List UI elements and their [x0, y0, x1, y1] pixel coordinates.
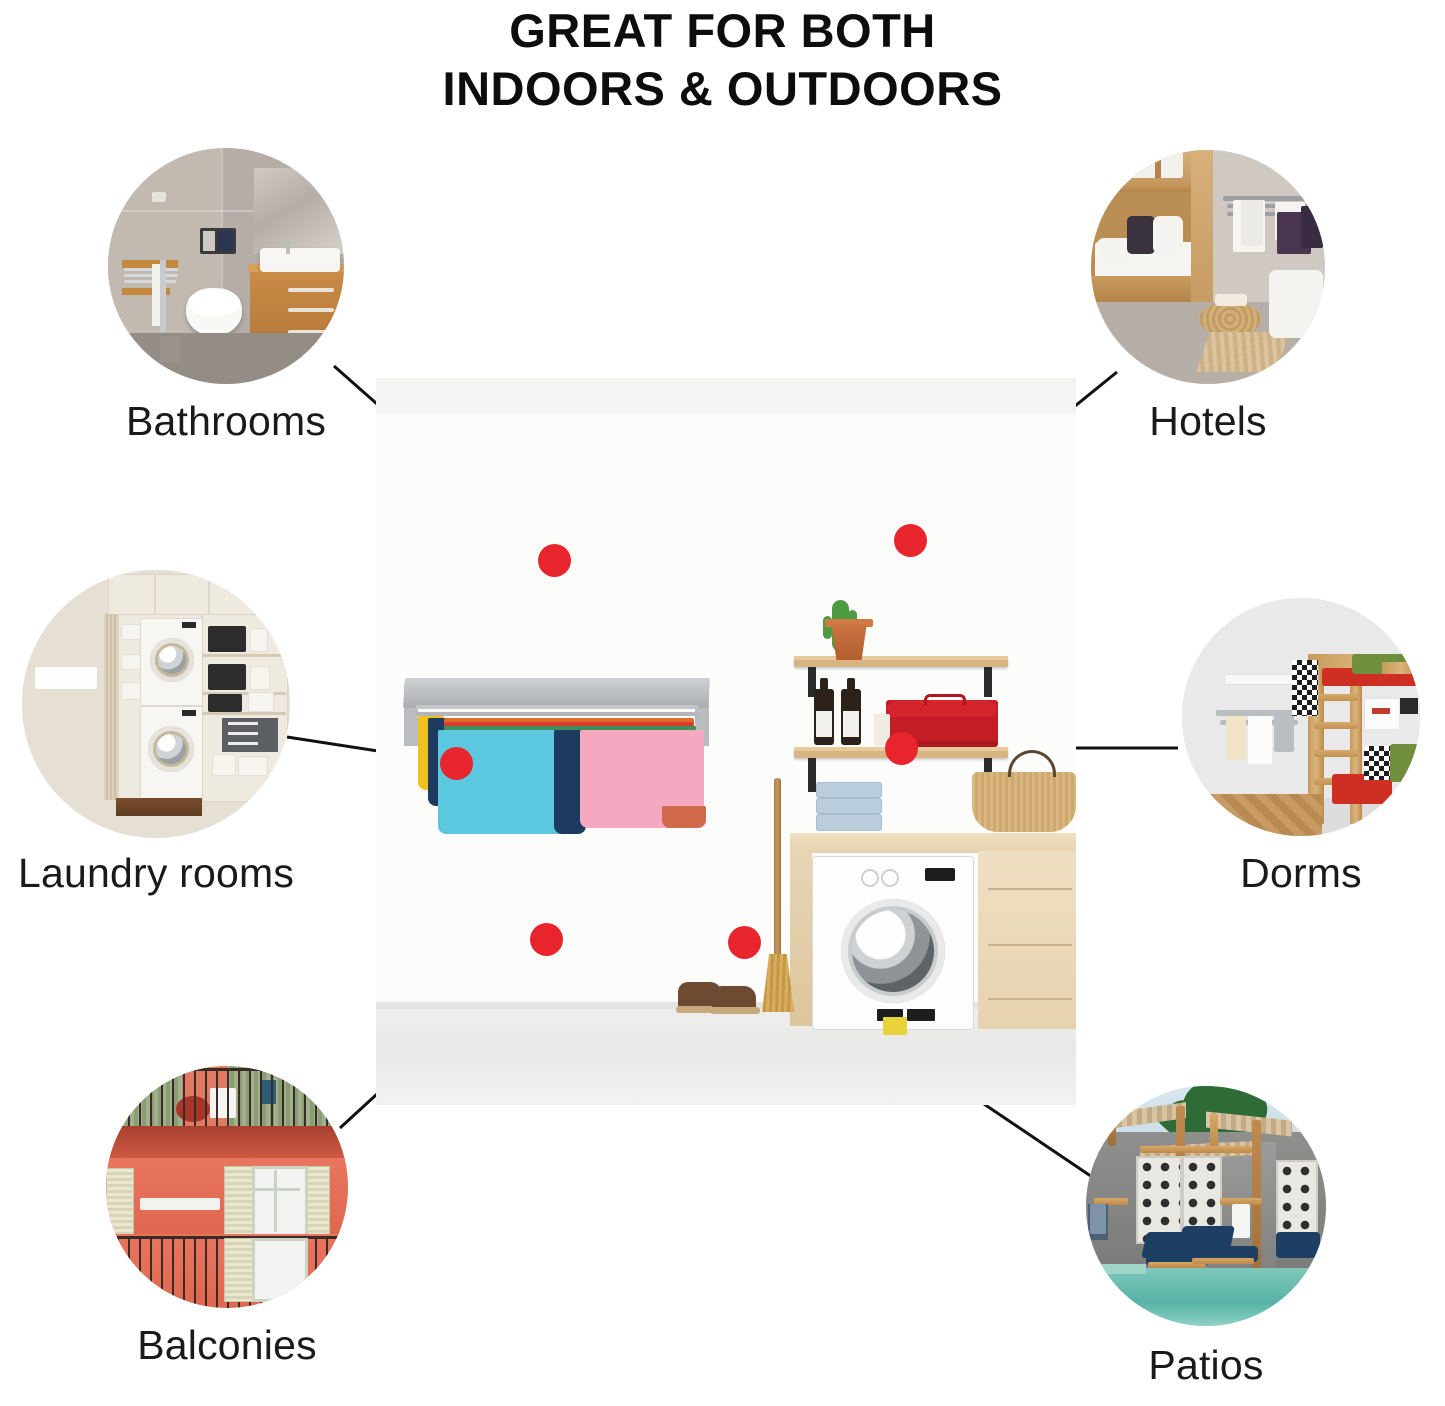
callout-balconies[interactable]: Balconies	[106, 1066, 348, 1308]
washing-machine	[812, 856, 974, 1030]
callout-label-laundry-rooms: Laundry rooms	[18, 850, 294, 897]
callout-dorms[interactable]: Dorms	[1182, 598, 1420, 836]
bottle-left	[814, 689, 834, 745]
callout-patios[interactable]: Patios	[1086, 1086, 1326, 1326]
straw-basket	[972, 772, 1076, 832]
callout-label-balconies: Balconies	[137, 1322, 317, 1369]
marker-dot-balconies[interactable]	[530, 923, 563, 956]
callout-label-dorms: Dorms	[1240, 850, 1362, 897]
marker-dot-dorms[interactable]	[885, 732, 918, 765]
laundry-rooms-thumbnail	[22, 570, 290, 838]
cabinet-top	[790, 833, 1076, 853]
balconies-thumbnail	[106, 1066, 348, 1308]
broom-handle	[774, 778, 781, 978]
cabinet-drawers	[978, 851, 1076, 1029]
callout-bathrooms[interactable]: Bathrooms	[108, 148, 344, 384]
marker-dot-patios[interactable]	[728, 926, 761, 959]
callout-label-patios: Patios	[1148, 1342, 1263, 1389]
marker-dot-laundry-rooms[interactable]	[440, 747, 473, 780]
dorms-thumbnail	[1182, 598, 1420, 836]
callout-hotels[interactable]: Hotels	[1091, 150, 1325, 384]
callout-label-bathrooms: Bathrooms	[126, 398, 326, 445]
page-title: GREAT FOR BOTH INDOORS & OUTDOORS	[0, 2, 1445, 118]
patios-thumbnail	[1086, 1086, 1326, 1326]
callout-laundry-rooms[interactable]: Laundry rooms	[22, 570, 290, 838]
bottle-right	[841, 689, 861, 745]
main-product-image	[376, 378, 1076, 1105]
boot-right	[712, 986, 756, 1009]
callout-label-hotels: Hotels	[1149, 398, 1266, 445]
bathrooms-thumbnail	[108, 148, 344, 384]
hotels-thumbnail	[1091, 150, 1325, 384]
marker-dot-bathrooms[interactable]	[538, 544, 571, 577]
cabinet-left-panel	[790, 851, 812, 1026]
marker-dot-hotels[interactable]	[894, 524, 927, 557]
